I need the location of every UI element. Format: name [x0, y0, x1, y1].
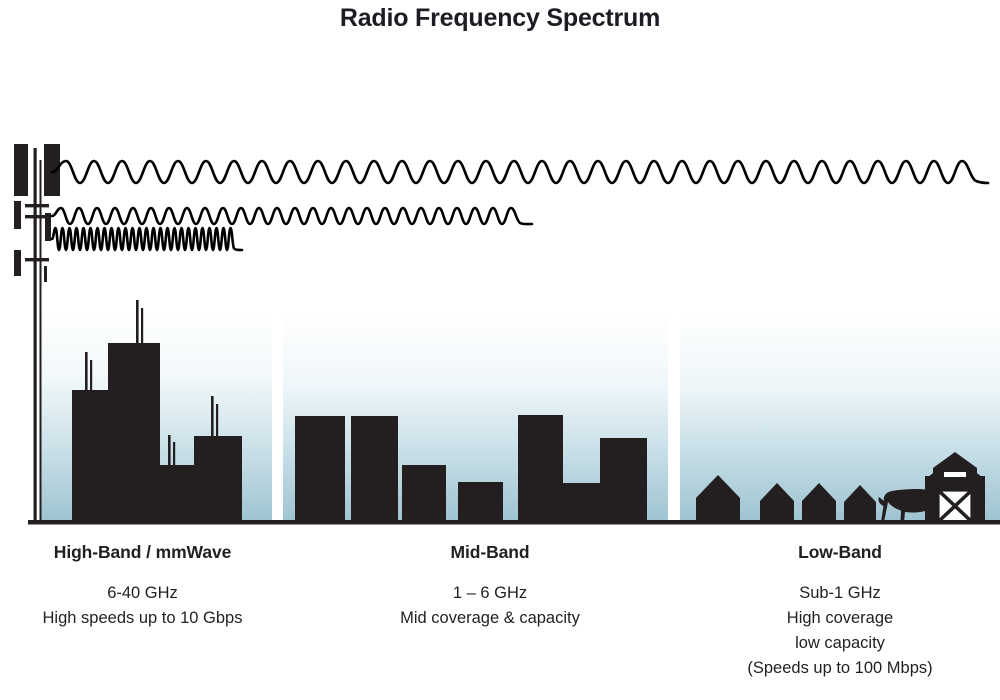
page-title: Radio Frequency Spectrum: [0, 4, 1000, 33]
band-desc-low-0: High coverage: [690, 606, 990, 631]
barn-window: [944, 472, 966, 477]
mid-band-wave: [52, 208, 532, 224]
tower-antenna-panel-4: [14, 250, 21, 276]
tower-antenna-panel-left: [14, 144, 28, 196]
building-spire: [90, 360, 92, 390]
building: [108, 343, 160, 522]
building-spire: [85, 352, 88, 390]
band-desc-low-2: (Speeds up to 100 Mbps): [690, 656, 990, 681]
low-band-wave: [52, 161, 988, 183]
caption-row: High-Band / mmWave 6-40 GHz High speeds …: [0, 542, 1000, 700]
band-frequency-high: 6-40 GHz: [0, 581, 285, 606]
band-details-high: 6-40 GHz High speeds up to 10 Gbps: [0, 581, 285, 631]
band-desc-low-1: low capacity: [690, 631, 990, 656]
band-desc-high-0: High speeds up to 10 Gbps: [0, 606, 285, 631]
band-details-low: Sub-1 GHz High coverage low capacity (Sp…: [690, 581, 990, 681]
building-spire: [211, 396, 214, 436]
building-spire: [168, 435, 171, 465]
building-spire: [216, 404, 218, 436]
tower-antenna-panel-3: [45, 213, 51, 241]
building: [458, 482, 503, 522]
band-label-low: Low-Band: [690, 542, 990, 562]
band-label-mid: Mid-Band: [345, 542, 635, 562]
building-spire: [141, 308, 143, 343]
band-frequency-mid: 1 – 6 GHz: [345, 581, 635, 606]
caption-column-high-band: High-Band / mmWave 6-40 GHz High speeds …: [0, 542, 285, 631]
building: [194, 436, 242, 522]
building: [563, 483, 601, 522]
high-band-wave: [52, 228, 242, 250]
building: [351, 416, 398, 522]
band-details-mid: 1 – 6 GHz Mid coverage & capacity: [345, 581, 635, 631]
building: [600, 438, 647, 522]
building-spire: [136, 300, 139, 343]
building: [402, 465, 446, 522]
band-desc-mid-0: Mid coverage & capacity: [345, 606, 635, 631]
caption-column-mid-band: Mid-Band 1 – 6 GHz Mid coverage & capaci…: [345, 542, 635, 631]
building-spire: [173, 442, 175, 465]
spectrum-illustration: [0, 120, 1000, 530]
band-label-high: High-Band / mmWave: [0, 542, 285, 562]
infographic-canvas: Radio Frequency Spectrum: [0, 0, 1000, 700]
building: [72, 390, 108, 522]
building: [160, 465, 194, 522]
band-frequency-low: Sub-1 GHz: [690, 581, 990, 606]
ground-line: [28, 520, 1000, 525]
building: [518, 415, 563, 522]
building: [295, 416, 345, 522]
caption-column-low-band: Low-Band Sub-1 GHz High coverage low cap…: [690, 542, 990, 681]
scene-svg: [0, 120, 1000, 530]
tower-antenna-panel-2: [14, 201, 21, 229]
